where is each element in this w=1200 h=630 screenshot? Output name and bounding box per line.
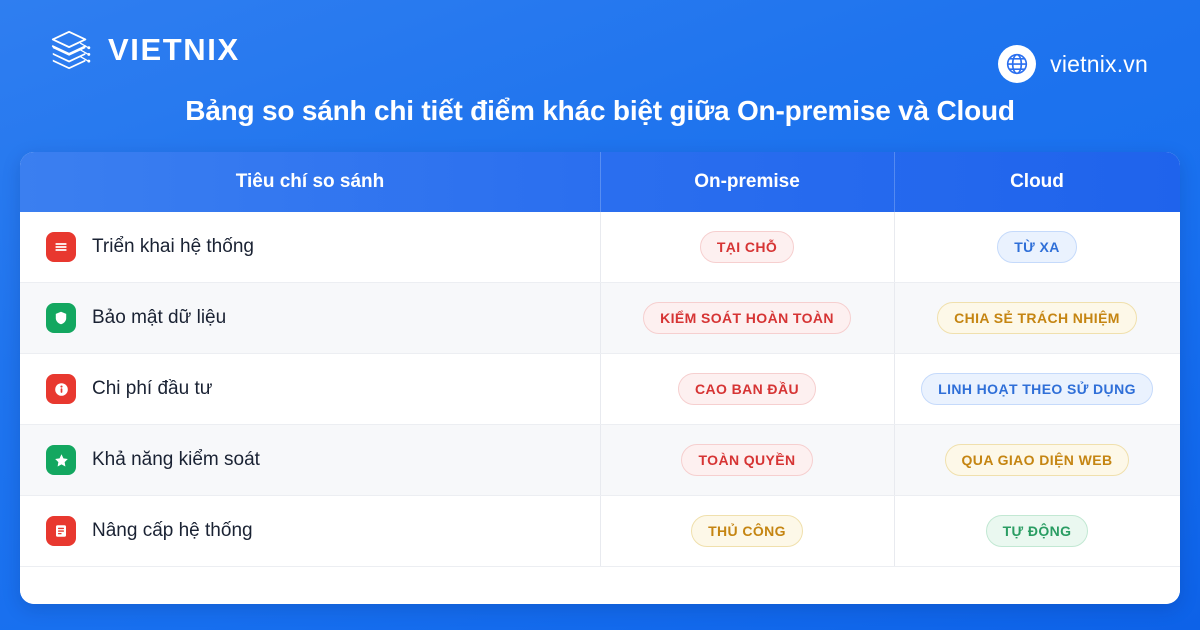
star-icon — [46, 445, 76, 475]
column-header-cloud: Cloud — [894, 152, 1180, 212]
table-row: Khả năng kiểm soát TOÀN QUYỀN QUA GIAO D… — [20, 425, 1180, 496]
criteria-label: Khả năng kiểm soát — [92, 449, 260, 471]
status-badge: LINH HOẠT THEO SỬ DỤNG — [921, 373, 1153, 405]
table-row: Chi phí đầu tư CAO BAN ĐẦU LINH HOẠT THE… — [20, 354, 1180, 425]
page-title: Bảng so sánh chi tiết điểm khác biệt giữ… — [0, 95, 1200, 127]
site-url[interactable]: vietnix.vn — [998, 45, 1148, 83]
cloud-cell: TỰ ĐỘNG — [894, 496, 1180, 566]
criteria-cell: Nâng cấp hệ thống — [20, 496, 600, 566]
status-badge: QUA GIAO DIỆN WEB — [945, 444, 1130, 476]
info-icon — [46, 374, 76, 404]
status-badge: THỦ CÔNG — [691, 515, 803, 547]
cloud-cell: LINH HOẠT THEO SỬ DỤNG — [894, 354, 1180, 424]
cloud-cell: QUA GIAO DIỆN WEB — [894, 425, 1180, 495]
page-header: VIETNIX vietnix.vn Bảng so sánh chi tiết… — [0, 0, 1200, 150]
cloud-cell: CHIA SẺ TRÁCH NHIỆM — [894, 283, 1180, 353]
status-badge: TẠI CHỖ — [700, 231, 794, 263]
site-url-text: vietnix.vn — [1050, 51, 1148, 78]
brand-logo: VIETNIX — [48, 27, 240, 73]
globe-icon — [998, 45, 1036, 83]
criteria-label: Bảo mật dữ liệu — [92, 307, 226, 329]
on-premise-cell: KIỂM SOÁT HOÀN TOÀN — [600, 283, 894, 353]
criteria-label: Nâng cấp hệ thống — [92, 520, 253, 542]
on-premise-cell: TẠI CHỖ — [600, 212, 894, 282]
stacked-layers-icon — [48, 27, 94, 73]
document-icon — [46, 516, 76, 546]
status-badge: KIỂM SOÁT HOÀN TOÀN — [643, 302, 851, 334]
comparison-table-card: Tiêu chí so sánh On-premise Cloud Triển … — [20, 152, 1180, 604]
table-row: Nâng cấp hệ thống THỦ CÔNG TỰ ĐỘNG — [20, 496, 1180, 567]
column-header-criteria: Tiêu chí so sánh — [20, 152, 600, 212]
on-premise-cell: THỦ CÔNG — [600, 496, 894, 566]
criteria-cell: Khả năng kiểm soát — [20, 425, 600, 495]
table-row: Triển khai hệ thống TẠI CHỖ TỪ XA — [20, 212, 1180, 283]
table-body: Triển khai hệ thống TẠI CHỖ TỪ XA Bảo mậ… — [20, 212, 1180, 604]
table-footer-spacer — [20, 567, 1180, 604]
list-icon — [46, 232, 76, 262]
on-premise-cell: TOÀN QUYỀN — [600, 425, 894, 495]
brand-name: VIETNIX — [108, 32, 240, 68]
status-badge: TỪ XA — [997, 231, 1077, 263]
table-row: Bảo mật dữ liệu KIỂM SOÁT HOÀN TOÀN CHIA… — [20, 283, 1180, 354]
criteria-cell: Bảo mật dữ liệu — [20, 283, 600, 353]
criteria-label: Triển khai hệ thống — [92, 236, 254, 258]
on-premise-cell: CAO BAN ĐẦU — [600, 354, 894, 424]
shield-icon — [46, 303, 76, 333]
status-badge: CAO BAN ĐẦU — [678, 373, 816, 405]
column-header-on-premise: On-premise — [600, 152, 894, 212]
criteria-label: Chi phí đầu tư — [92, 378, 212, 400]
status-badge: TOÀN QUYỀN — [681, 444, 812, 476]
status-badge: TỰ ĐỘNG — [986, 515, 1089, 547]
criteria-cell: Chi phí đầu tư — [20, 354, 600, 424]
cloud-cell: TỪ XA — [894, 212, 1180, 282]
criteria-cell: Triển khai hệ thống — [20, 212, 600, 282]
status-badge: CHIA SẺ TRÁCH NHIỆM — [937, 302, 1137, 334]
table-header-row: Tiêu chí so sánh On-premise Cloud — [20, 152, 1180, 212]
